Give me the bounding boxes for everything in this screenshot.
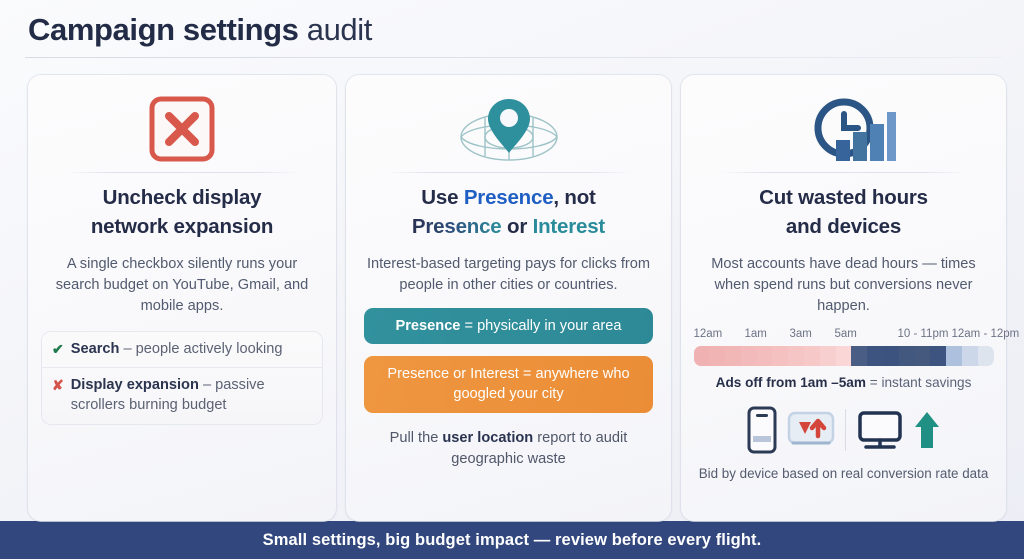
mobile-phone-icon bbox=[747, 406, 777, 454]
heatmap-cell bbox=[883, 346, 899, 366]
list-item-text: Search – people actively looking bbox=[71, 340, 283, 360]
badge-strong: Presence bbox=[396, 318, 461, 334]
heatmap-tick-label: 3am bbox=[790, 328, 812, 340]
heatmap-cell bbox=[725, 346, 741, 366]
cross-icon: ✘ bbox=[52, 376, 64, 396]
heatmap-cell bbox=[851, 346, 867, 366]
heatmap-cell bbox=[978, 346, 994, 366]
badge-presence: Presence = physically in your area bbox=[364, 308, 653, 344]
list-item-text: Display expansion – passive scrollers bu… bbox=[71, 376, 311, 416]
footnote-strong: user location bbox=[442, 430, 533, 446]
heatmap-cell bbox=[709, 346, 725, 366]
list-item-rest: – people actively looking bbox=[119, 341, 282, 357]
heatmap-tick-label: 5am bbox=[835, 328, 857, 340]
list-item: ✘ Display expansion – passive scrollers … bbox=[42, 367, 322, 424]
heatmap-tick-label: 12am bbox=[694, 328, 723, 340]
card-presence-targeting[interactable]: Use Presence, not Presence or Interest I… bbox=[346, 75, 671, 521]
card-title-interest-teal: Interest bbox=[533, 215, 605, 238]
list-item-strong: Display expansion bbox=[71, 377, 199, 393]
card-title-line2: and devices bbox=[786, 215, 901, 238]
card-title: Cut wasted hours and devices bbox=[759, 183, 928, 242]
cards-row: Uncheck display network expansion A sing… bbox=[0, 58, 1024, 521]
card-cut-wasted-hours[interactable]: Cut wasted hours and devices Most accoun… bbox=[681, 75, 1006, 521]
heatmap-caption: Ads off from 1am –5am = instant savings bbox=[716, 375, 972, 390]
heatmap-tick-labels: 12am1am3am5am10 - 11pm12am - 12pm bbox=[694, 328, 994, 343]
clock-bar-chart-icon bbox=[792, 91, 896, 167]
heatmap-caption-strong: Ads off from 1am –5am bbox=[716, 375, 866, 390]
heatmap-cell bbox=[788, 346, 804, 366]
card-title-part-c: , not bbox=[553, 186, 595, 209]
heatmap-tick-label: 10 - 11pm bbox=[898, 328, 949, 340]
heatmap-cell bbox=[741, 346, 757, 366]
divider bbox=[845, 409, 846, 451]
card-title-line1: Cut wasted hours bbox=[759, 186, 928, 209]
badge-rest: Presence or Interest = anywhere who goog… bbox=[387, 366, 629, 402]
bid-adjust-arrows-icon bbox=[787, 409, 835, 451]
card-title-line1: Uncheck display bbox=[103, 186, 262, 209]
card-divider bbox=[720, 172, 966, 173]
red-x-checkbox-icon bbox=[148, 91, 216, 167]
footnote-part-a: Pull the bbox=[390, 430, 443, 446]
heatmap-cell bbox=[962, 346, 978, 366]
card-body-text: Interest-based targeting pays for clicks… bbox=[364, 254, 654, 297]
card-footnote: Pull the user location report to audit g… bbox=[369, 428, 649, 471]
badge-presence-or-interest: Presence or Interest = anywhere who goog… bbox=[364, 356, 653, 412]
page-title-light: audit bbox=[299, 12, 372, 47]
footer-text: Small settings, big budget impact — revi… bbox=[263, 531, 762, 550]
heatmap-strip bbox=[694, 346, 994, 366]
heatmap-cell bbox=[694, 346, 710, 366]
heatmap-cell bbox=[946, 346, 962, 366]
card-title: Use Presence, not Presence or Interest bbox=[412, 183, 605, 242]
list-item-strong: Search bbox=[71, 341, 120, 357]
heatmap-cell bbox=[915, 346, 931, 366]
check-icon: ✔ bbox=[52, 340, 64, 360]
heatmap-cell bbox=[899, 346, 915, 366]
heatmap-caption-rest: = instant savings bbox=[866, 375, 971, 390]
card-title-presence-blue: Presence bbox=[464, 186, 554, 209]
card-divider bbox=[385, 172, 631, 173]
card-title-part-a: Use bbox=[421, 186, 464, 209]
card-divider bbox=[66, 172, 298, 173]
heatmap-cell bbox=[930, 346, 946, 366]
card-body-text: Most accounts have dead hours — times wh… bbox=[694, 254, 994, 318]
heatmap-cell bbox=[836, 346, 852, 366]
heatmap-cell bbox=[804, 346, 820, 366]
green-up-arrow-icon bbox=[914, 408, 940, 452]
heatmap-cell bbox=[772, 346, 788, 366]
card-uncheck-display-network[interactable]: Uncheck display network expansion A sing… bbox=[28, 75, 336, 521]
card-title: Uncheck display network expansion bbox=[91, 183, 273, 242]
heatmap-tick-label: 12am - 12pm bbox=[952, 328, 1020, 340]
heatmap-cell bbox=[867, 346, 883, 366]
heatmap-cell bbox=[757, 346, 773, 366]
comparison-list: ✔ Search – people actively looking ✘ Dis… bbox=[42, 332, 322, 425]
heatmap-cell bbox=[820, 346, 836, 366]
card-title-line2: network expansion bbox=[91, 215, 273, 238]
infographic-page: Campaign settings audit Uncheck display … bbox=[0, 0, 1024, 559]
page-title: Campaign settings audit bbox=[28, 12, 1024, 48]
page-title-strong: Campaign settings bbox=[28, 12, 299, 47]
footer-banner: Small settings, big budget impact — revi… bbox=[0, 521, 1024, 559]
location-pin-globe-icon bbox=[454, 91, 564, 167]
devices-caption: Bid by device based on real conversion r… bbox=[699, 465, 989, 482]
desktop-monitor-icon bbox=[856, 409, 904, 451]
page-header: Campaign settings audit bbox=[0, 0, 1024, 48]
list-item: ✔ Search – people actively looking bbox=[42, 332, 322, 368]
card-title-presence-gradient: Presence bbox=[412, 215, 502, 238]
device-icons-group bbox=[747, 401, 940, 459]
card-body-text: A single checkbox silently runs your sea… bbox=[48, 254, 316, 318]
heatmap-tick-label: 1am bbox=[745, 328, 767, 340]
card-title-or: or bbox=[502, 215, 533, 238]
badge-rest: = physically in your area bbox=[460, 318, 621, 334]
